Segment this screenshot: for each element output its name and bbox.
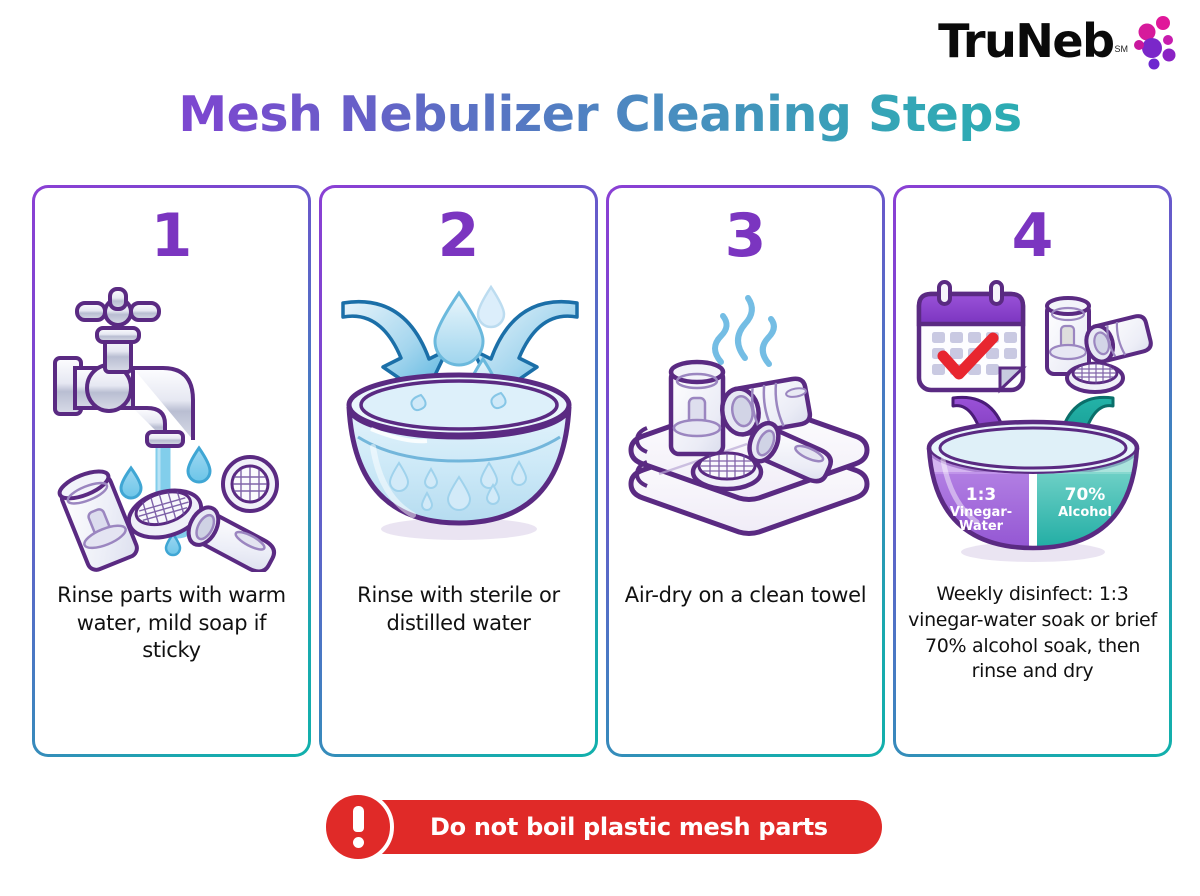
step-card-3: 3 (606, 185, 885, 757)
step-1-illustration (35, 272, 308, 572)
page-title: Mesh Nebulizer Cleaning Steps (0, 86, 1200, 143)
step-card-2: 2 (319, 185, 598, 757)
step-4-caption: Weekly disinfect: 1:3 vinegar-water soak… (896, 572, 1169, 754)
brand-name: TruNeb (938, 18, 1113, 64)
bowl-label-alcohol: Alcohol (1058, 505, 1112, 520)
step-2-illustration (322, 272, 595, 572)
towel-drying-icon (617, 278, 875, 566)
step-1-caption: Rinse parts with warm water, mild soap i… (35, 572, 308, 754)
step-card-1: 1 (32, 185, 311, 757)
step-4-illustration: 1:3 Vinegar- Water 70% Alcohol (896, 272, 1169, 572)
step-number-3: 3 (725, 206, 767, 266)
bowl-label-vinegar-1: Vinegar- (949, 505, 1011, 520)
weekly-disinfect-icon: 1:3 Vinegar- Water 70% Alcohol (905, 276, 1161, 568)
step-3-caption: Air-dry on a clean towel (609, 572, 882, 754)
steps-row: 1 (32, 185, 1172, 757)
step-number-2: 2 (438, 206, 480, 266)
step-number-4: 4 (1012, 206, 1054, 266)
brand-trademark: SM (1115, 44, 1129, 54)
bowl-label-vinegar-2: Water (958, 519, 1003, 534)
brand-logo: TruNeb SM (938, 18, 1182, 70)
step-2-caption: Rinse with sterile or distilled water (322, 572, 595, 754)
water-bowl-icon (331, 277, 587, 567)
exclamation-circle-icon (322, 791, 394, 863)
faucet-icon (47, 272, 297, 572)
step-card-4: 4 (893, 185, 1172, 757)
bowl-label-percent: 70% (1064, 485, 1105, 505)
warning-banner: Do not boil plastic mesh parts (330, 800, 882, 854)
warning-text: Do not boil plastic mesh parts (430, 813, 828, 841)
brand-dots-icon (1130, 14, 1182, 70)
bowl-label-ratio: 1:3 (965, 485, 995, 505)
infographic-page: TruNeb SM Mesh Nebulizer Cleaning Steps … (0, 0, 1200, 896)
step-number-1: 1 (151, 206, 193, 266)
step-3-illustration (609, 272, 882, 572)
